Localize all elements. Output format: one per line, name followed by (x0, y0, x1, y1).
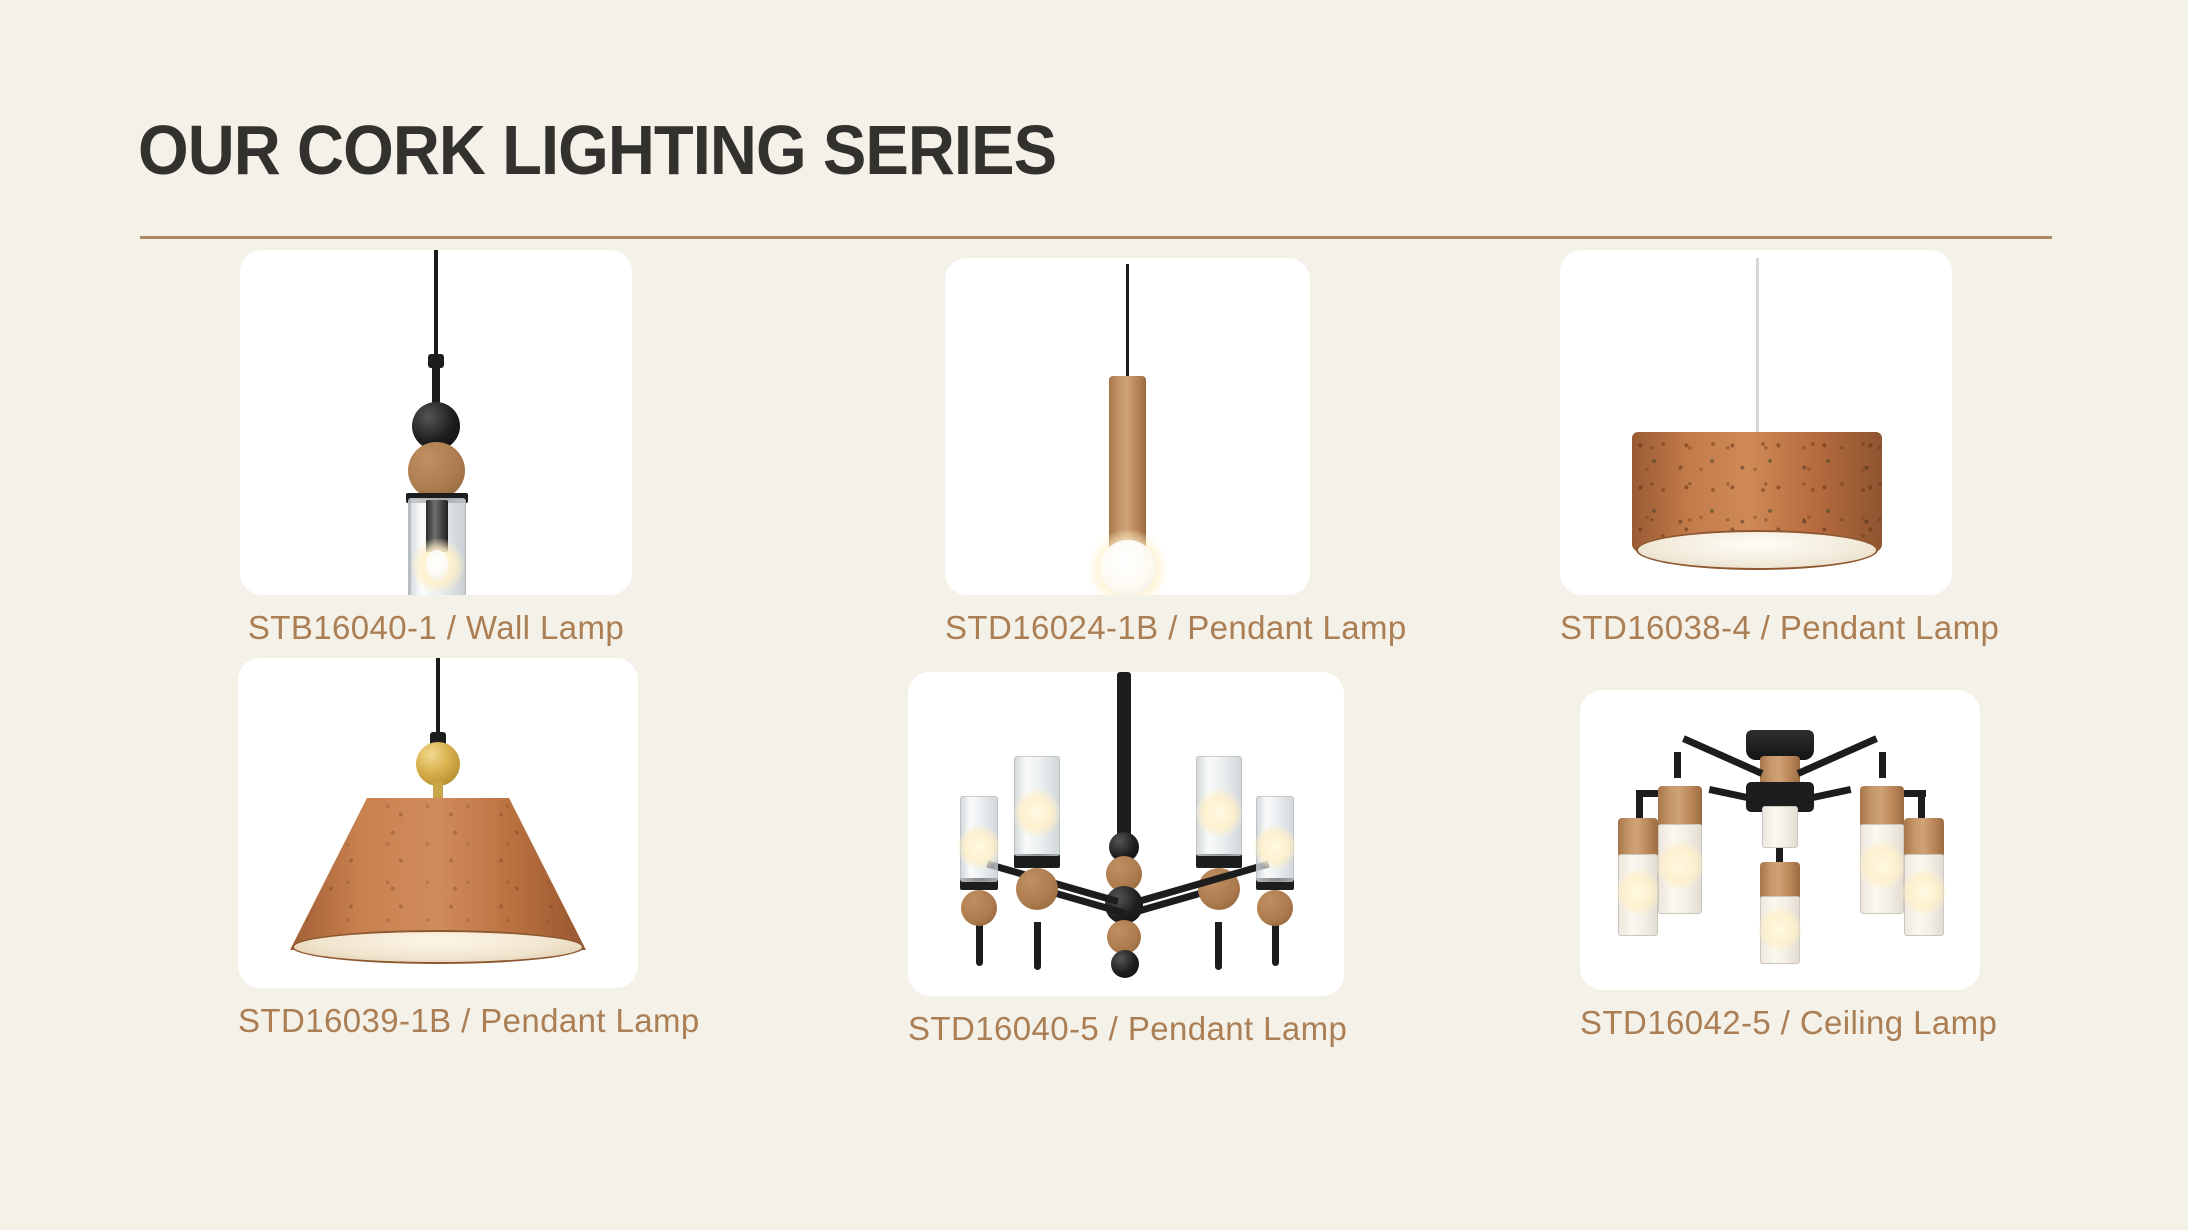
product-caption-3: STD16038-4 / Pendant Lamp (1560, 609, 1952, 647)
product-image-1[interactable] (240, 250, 632, 595)
cork-cone-shade (290, 798, 586, 950)
bulb-glow-left (1656, 840, 1704, 890)
cork-sphere-left-inner (1016, 868, 1058, 910)
arm-right-inner-drop (1215, 922, 1222, 970)
product-card-1[interactable]: STB16040-1 / Wall Lamp (240, 250, 632, 647)
product-caption-6: STD16042-5 / Ceiling Lamp (1580, 1004, 1980, 1042)
product-caption-5: STD16040-5 / Pendant Lamp (908, 1010, 1344, 1048)
bulb-glow-right-outer (1254, 824, 1296, 870)
cork-top-center (1760, 862, 1800, 900)
bulb-glow-right (1858, 840, 1906, 890)
center-black-sphere-bottom (1111, 950, 1139, 978)
header-divider (140, 236, 2052, 239)
product-card-6[interactable]: STD16042-5 / Ceiling Lamp (1580, 690, 1980, 1042)
bulb-glow-left-inner (1014, 788, 1060, 838)
product-image-4[interactable] (238, 658, 638, 988)
bulb-glow-right-inner (1196, 788, 1242, 838)
product-image-3[interactable] (1560, 250, 1952, 595)
product-caption-1: STB16040-1 / Wall Lamp (240, 609, 632, 647)
arm-left-inner-drop (1034, 922, 1041, 970)
cork-top-far-left (1618, 818, 1658, 858)
center-cork-sphere-bottom (1107, 920, 1141, 954)
arm-upper-right-riser (1879, 752, 1886, 778)
product-image-2[interactable] (945, 258, 1310, 595)
arm-upper-left-riser (1674, 752, 1681, 778)
bulb-glow-far-left (1616, 868, 1660, 916)
cord (1126, 264, 1129, 382)
bulb (426, 550, 448, 580)
shade-lip (292, 930, 584, 964)
product-image-5[interactable] (908, 672, 1344, 996)
bulb-glow-left-outer (958, 824, 1000, 870)
arm-right-outer-drop (1272, 924, 1279, 966)
cork-top-left (1658, 786, 1702, 828)
cork-sphere (408, 442, 465, 499)
catalog-page: OUR CORK LIGHTING SERIES (0, 0, 2188, 1230)
socket-right-inner (1196, 854, 1242, 868)
arm-left-outer-drop (976, 924, 983, 966)
center-glass-tube (1762, 806, 1798, 848)
cork-top-right (1860, 786, 1904, 828)
product-caption-2: STD16024-1B / Pendant Lamp (945, 609, 1310, 647)
cork-sphere-left-outer (961, 890, 997, 926)
page-title: OUR CORK LIGHTING SERIES (138, 110, 1056, 190)
cork-top-far-right (1904, 818, 1944, 858)
globe-bulb (1100, 540, 1156, 595)
cord (436, 658, 440, 738)
drop-rod (1117, 672, 1131, 844)
product-card-2[interactable]: STD16024-1B / Pendant Lamp (945, 258, 1310, 647)
cord (1756, 258, 1759, 438)
product-caption-4: STD16039-1B / Pendant Lamp (238, 1002, 638, 1040)
cord (434, 250, 438, 356)
bulb-glow-center (1758, 906, 1802, 952)
cork-sphere-right-outer (1257, 890, 1293, 926)
shade-diffuser (1636, 530, 1878, 570)
brass-sphere (416, 742, 460, 786)
bulb-glow-far-right (1902, 868, 1946, 916)
product-card-5[interactable]: STD16040-5 / Pendant Lamp (908, 672, 1344, 1048)
socket-left-inner (1014, 854, 1060, 868)
product-image-6[interactable] (1580, 690, 1980, 990)
product-card-4[interactable]: STD16039-1B / Pendant Lamp (238, 658, 638, 1040)
product-card-3[interactable]: STD16038-4 / Pendant Lamp (1560, 250, 1952, 647)
